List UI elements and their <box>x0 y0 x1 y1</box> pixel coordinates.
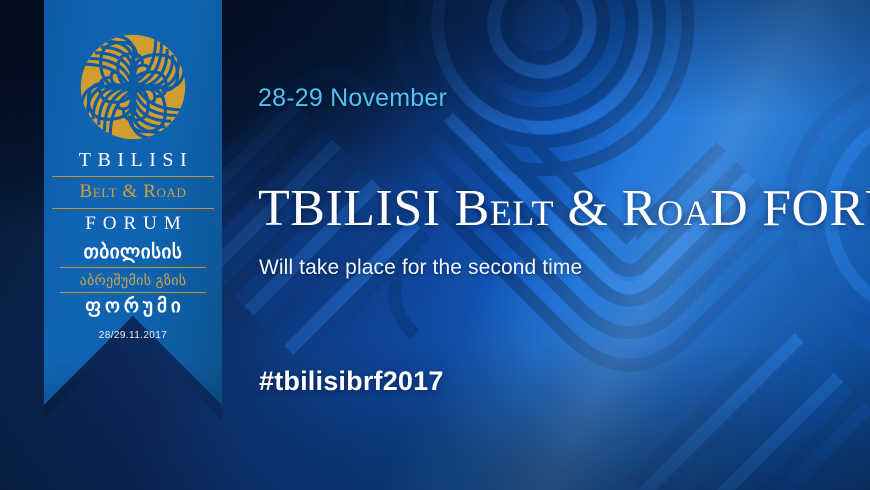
logo-line-ka-forum: ფორუმი <box>44 297 222 318</box>
page-title: TBILISIBelt & RoaDFORUM <box>258 183 870 235</box>
logo-line-forum: FORUM <box>44 214 222 233</box>
title-word-forum: FORUM <box>762 180 870 237</box>
logo-line-ka-tbilisis: თბილისის <box>44 242 222 264</box>
logo-rule-bottom <box>52 208 214 209</box>
title-word-belt: Belt <box>455 180 554 237</box>
logo-rule-ka-bottom <box>60 292 206 293</box>
title-word-tbilisi: TBILISI <box>258 180 441 237</box>
title-word-road: RoaD <box>622 180 748 237</box>
page-subtitle: Will take place for the second time <box>259 256 582 280</box>
event-hashtag: #tbilisibrf2017 <box>259 366 444 397</box>
logo-rule-ka-top <box>60 267 206 268</box>
logo-date: 28/29.11.2017 <box>44 330 222 341</box>
logo-rule-top <box>52 176 214 177</box>
banner-content: 28-29 November TBILISIBelt & RoaDFORUM W… <box>256 0 870 490</box>
logo-line-ka-silk-road: აბრეშუმის გზის <box>44 272 222 289</box>
title-ampersand: & <box>567 180 608 237</box>
logo-line-tbilisi: TBILISI <box>44 150 222 170</box>
logo-line-belt-and-road: Belt & Road <box>44 182 222 202</box>
logo-wordmark: TBILISI Belt & Road FORUM თბილისის აბრეშ… <box>44 150 222 341</box>
event-dates: 28-29 November <box>258 84 447 113</box>
banner-canvas: TBILISI Belt & Road FORUM თბილისის აბრეშ… <box>0 0 870 490</box>
spiral-emblem-icon <box>76 30 190 144</box>
